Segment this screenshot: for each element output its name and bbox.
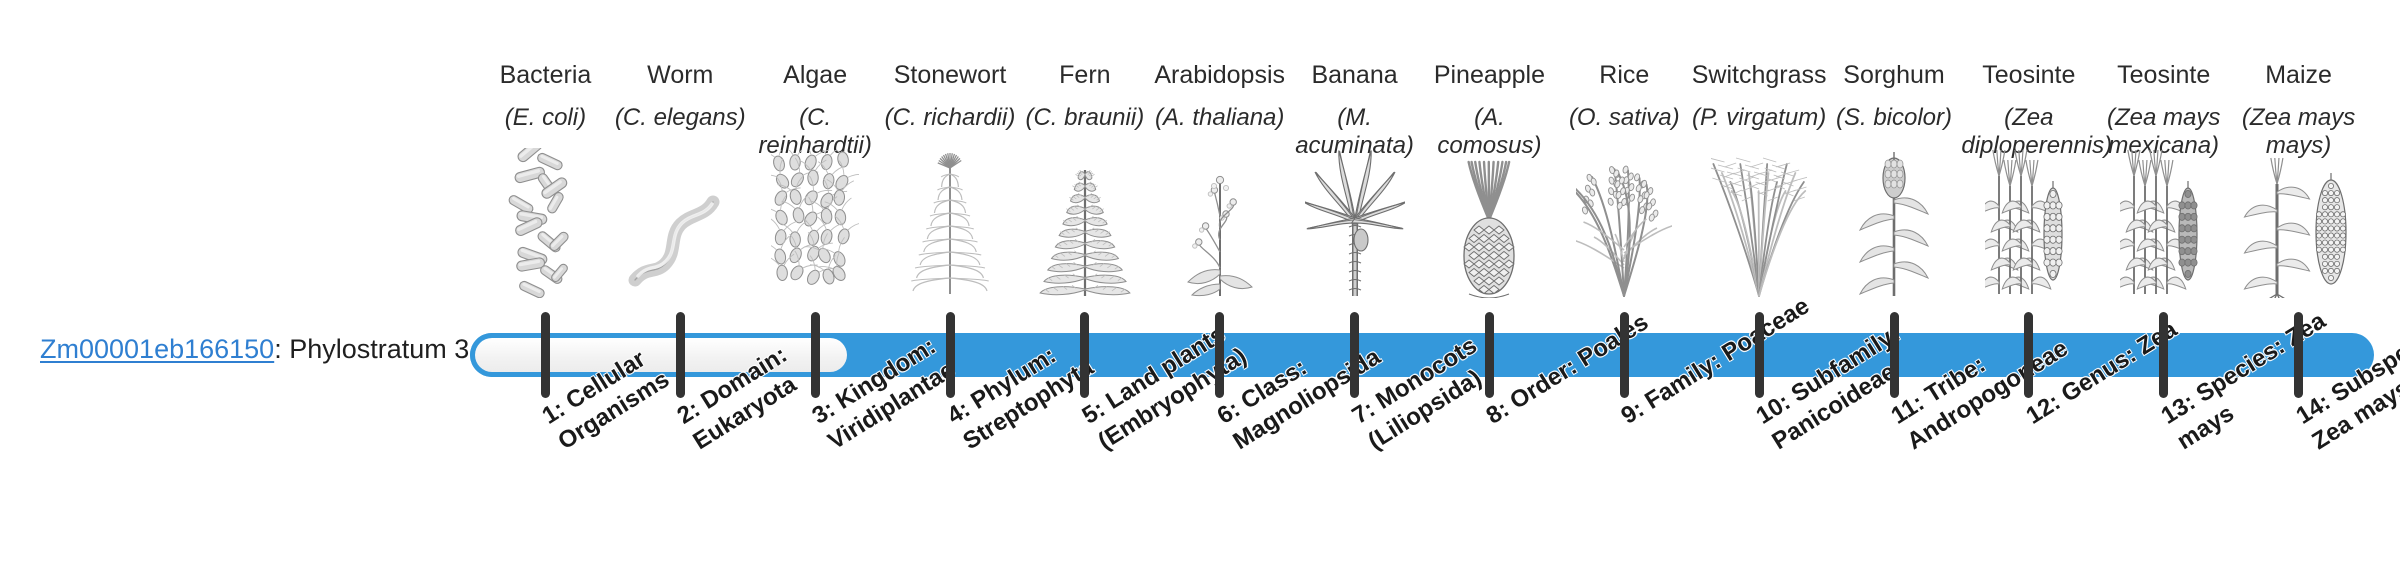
stratum-rank-name: Cellular Organisms	[554, 345, 675, 455]
stratum-number: 8:	[1482, 396, 1514, 430]
phylostratum-value-text: Phylostratum 3	[289, 334, 469, 364]
stratum-tick[interactable]	[1080, 312, 1089, 398]
stratum-tick[interactable]	[2159, 312, 2168, 398]
stratum-ticks: 1: Cellular Organisms2: Domain: Eukaryot…	[478, 0, 2366, 580]
stratum-tick[interactable]	[811, 312, 820, 398]
stratum-tick[interactable]	[2294, 312, 2303, 398]
stratum-tick[interactable]	[676, 312, 685, 398]
stratum-tick[interactable]	[2024, 312, 2033, 398]
stratum-number: 9:	[1617, 396, 1649, 430]
stratum-tick[interactable]	[1620, 312, 1629, 398]
phylostratigraphy-figure: Zm00001eb166150: Phylostratum 3 Bacteria…	[0, 0, 2400, 580]
stratum-tick[interactable]	[1755, 312, 1764, 398]
stratum-rank-name: Subfamily: Panicoideae	[1768, 320, 1906, 455]
gene-label-separator: :	[274, 334, 289, 364]
stratum-tick[interactable]	[1350, 312, 1359, 398]
stratum-tick[interactable]	[1485, 312, 1494, 398]
stratum-tick[interactable]	[1890, 312, 1899, 398]
stratum-tick[interactable]	[541, 312, 550, 398]
gene-phylostratum-label: Zm00001eb166150: Phylostratum 3	[40, 332, 469, 366]
stratum-tick[interactable]	[1215, 312, 1224, 398]
gene-id-link[interactable]: Zm00001eb166150	[40, 334, 274, 364]
stratum-tick[interactable]	[946, 312, 955, 398]
